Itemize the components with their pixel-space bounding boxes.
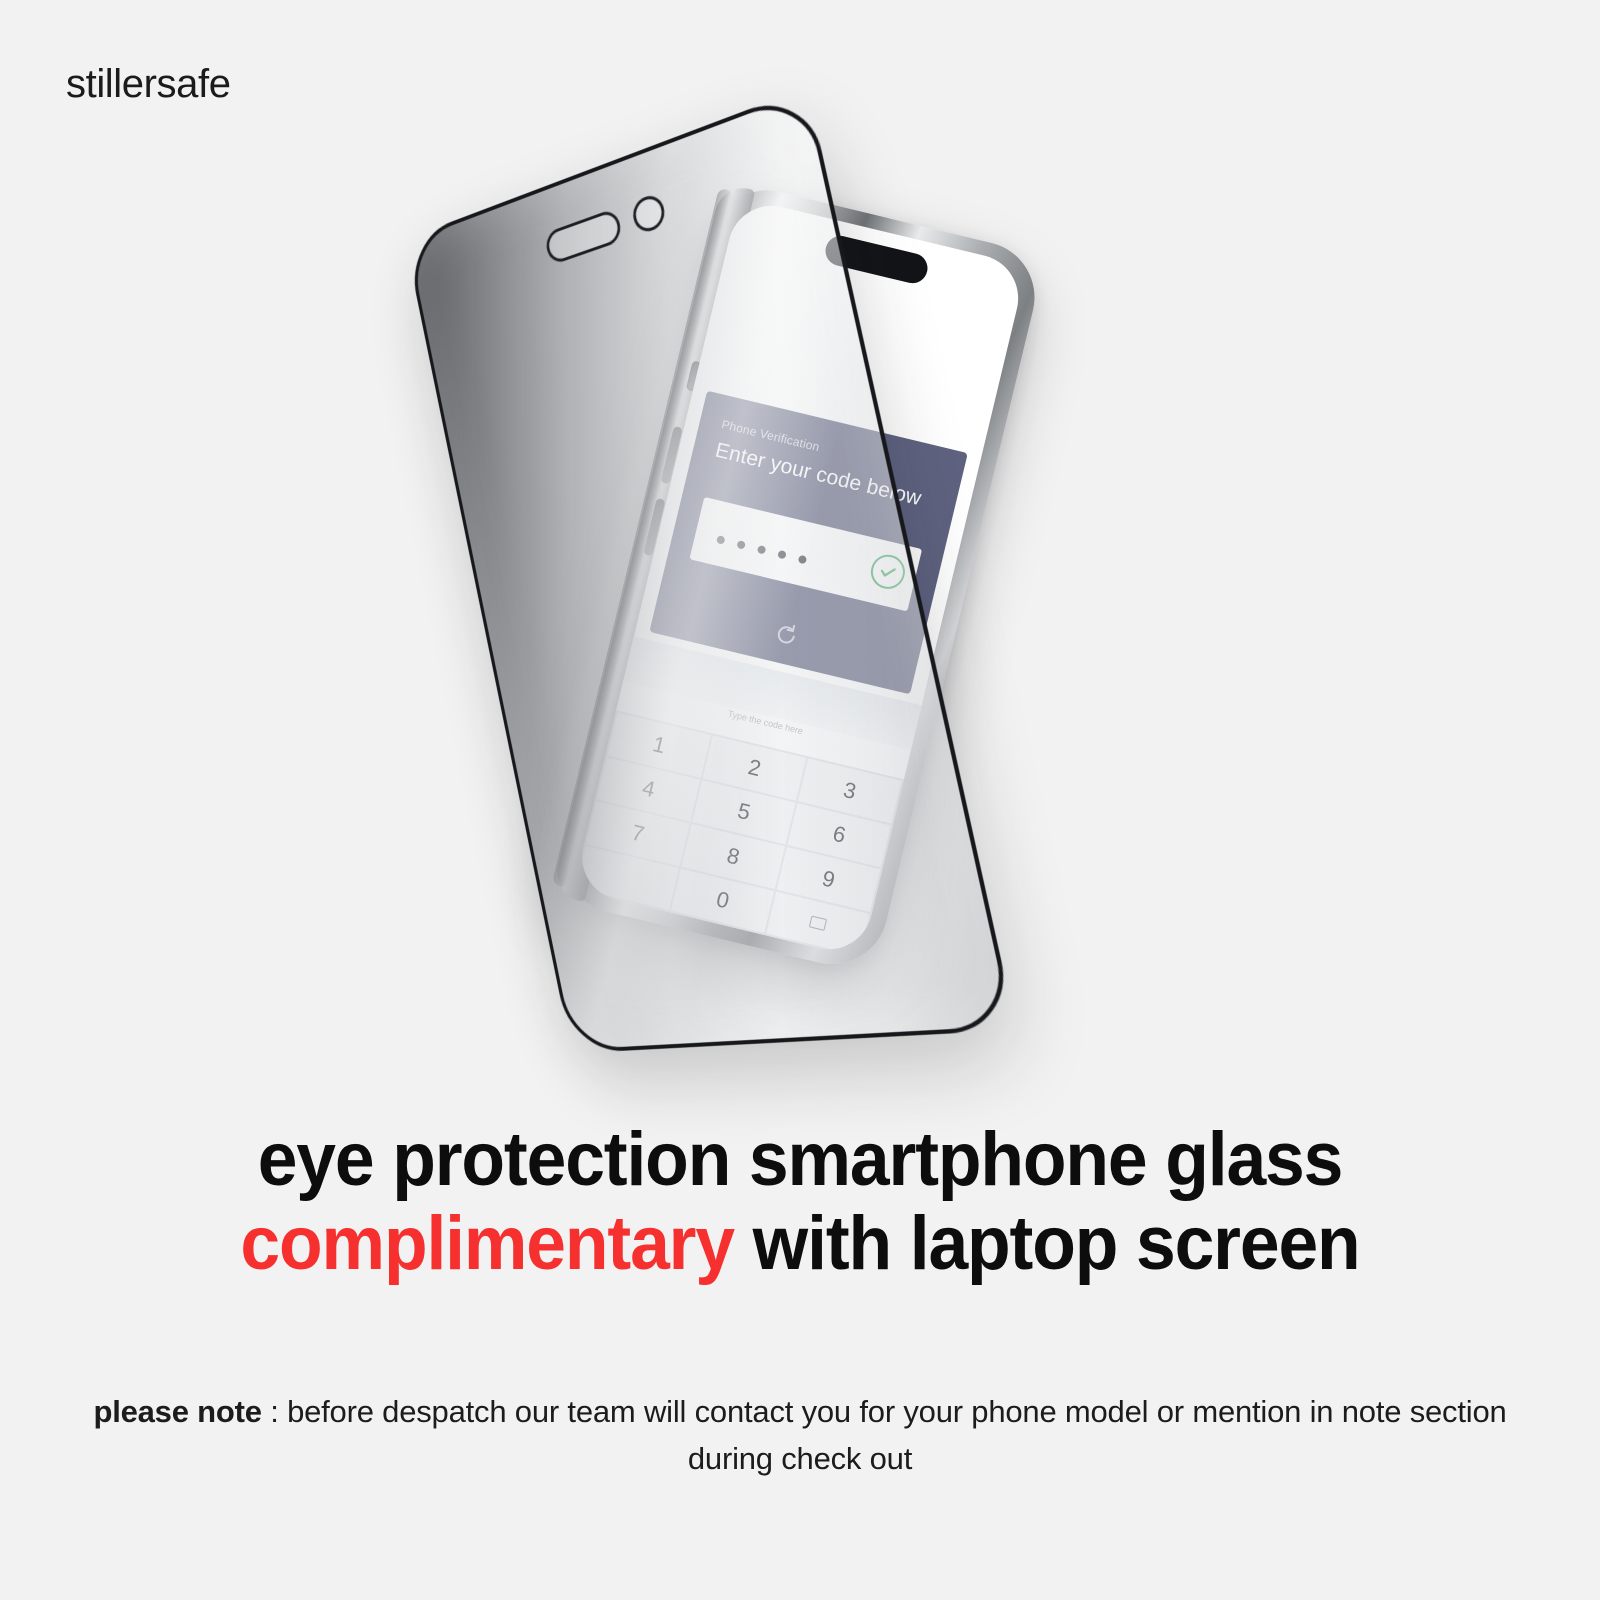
glass-panel [405,87,1017,1053]
product-hero: Phone Verification Enter your code below [0,120,1600,1100]
note-body: : before despatch our team will contact … [262,1394,1507,1476]
headline-line-2: complimentary with laptop screen [48,1202,1552,1286]
headline-accent: complimentary [240,1201,734,1286]
camera-dot-icon [630,192,667,236]
note-label: please note [93,1394,261,1429]
note-text: please note : before despatch our team w… [0,1388,1600,1482]
headline-line-2-rest: with laptop screen [734,1201,1360,1286]
glass-island-cutouts [544,192,668,266]
headline: eye protection smartphone glass complime… [0,1118,1600,1286]
headline-line-1: eye protection smartphone glass [48,1118,1552,1202]
glass-reflection [409,93,1012,1050]
promo-poster: stillersafe Phone Verification Enter you… [0,0,1600,1600]
brand-logo: stillersafe [66,62,231,107]
camera-pill-icon [544,207,624,265]
